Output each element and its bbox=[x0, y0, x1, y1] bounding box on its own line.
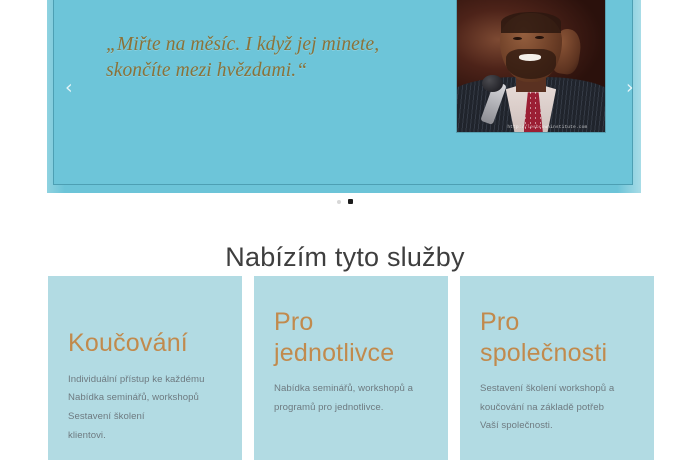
service-card-line: Vaší společnosti. bbox=[480, 417, 636, 436]
slide-quote: „Miřte na měsíc. I když jej minete, skon… bbox=[106, 32, 406, 83]
slider-next-arrow-icon[interactable]: › bbox=[626, 79, 634, 98]
service-card-body: Sestavení školení workshopů a koučování … bbox=[480, 380, 636, 436]
service-card-body: Individuální přístup ke každému Nabídka … bbox=[68, 371, 224, 446]
service-cards: Koučování Individuální přístup ke každém… bbox=[48, 276, 654, 460]
section-heading: Nabízím tyto služby bbox=[0, 242, 690, 273]
service-card-line: koučování na základě potřeb bbox=[480, 399, 636, 418]
service-card-title: Pro jednotlivce bbox=[274, 307, 430, 368]
slider-dot-2[interactable] bbox=[348, 199, 353, 204]
photo-eye-right bbox=[535, 36, 544, 39]
slider-dots bbox=[0, 199, 690, 204]
hero-slider[interactable]: „Miřte na měsíc. I když jej minete, skon… bbox=[53, 0, 633, 185]
service-card-body: Nabídka seminářů, workshopů a programů p… bbox=[274, 380, 430, 417]
service-card-line: Individuální přístup ke každému bbox=[68, 371, 224, 390]
slide-photo: http://lesbrowninstitute.com bbox=[457, 0, 605, 132]
service-card-koucovani[interactable]: Koučování Individuální přístup ke každém… bbox=[48, 276, 242, 460]
service-card-title: Koučování bbox=[68, 328, 224, 359]
service-card-pro-jednotlivce[interactable]: Pro jednotlivce Nabídka seminářů, worksh… bbox=[254, 276, 448, 460]
slider-prev-arrow-icon[interactable]: ‹ bbox=[65, 79, 73, 98]
page-root: „Miřte na měsíc. I když jej minete, skon… bbox=[0, 0, 690, 460]
service-card-line: Sestavení školení bbox=[68, 408, 224, 427]
service-card-line: Nabídka seminářů, workshopů a bbox=[274, 380, 430, 399]
photo-watermark: http://lesbrowninstitute.com bbox=[507, 125, 587, 130]
photo-hair bbox=[501, 12, 560, 33]
slider-dot-1[interactable] bbox=[337, 200, 341, 204]
service-card-line: programů pro jednotlivce. bbox=[274, 399, 430, 418]
service-card-line: Sestavení školení workshopů a bbox=[480, 380, 636, 399]
photo-smile bbox=[519, 54, 541, 61]
active-slide: „Miřte na měsíc. I když jej minete, skon… bbox=[54, 0, 632, 184]
service-card-pro-spolecnosti[interactable]: Pro společnosti Sestavení školení worksh… bbox=[460, 276, 654, 460]
service-card-line: klientovi. bbox=[68, 427, 224, 446]
service-card-line: Nabídka seminářů, workshopů bbox=[68, 389, 224, 408]
service-card-title: Pro společnosti bbox=[480, 307, 636, 368]
